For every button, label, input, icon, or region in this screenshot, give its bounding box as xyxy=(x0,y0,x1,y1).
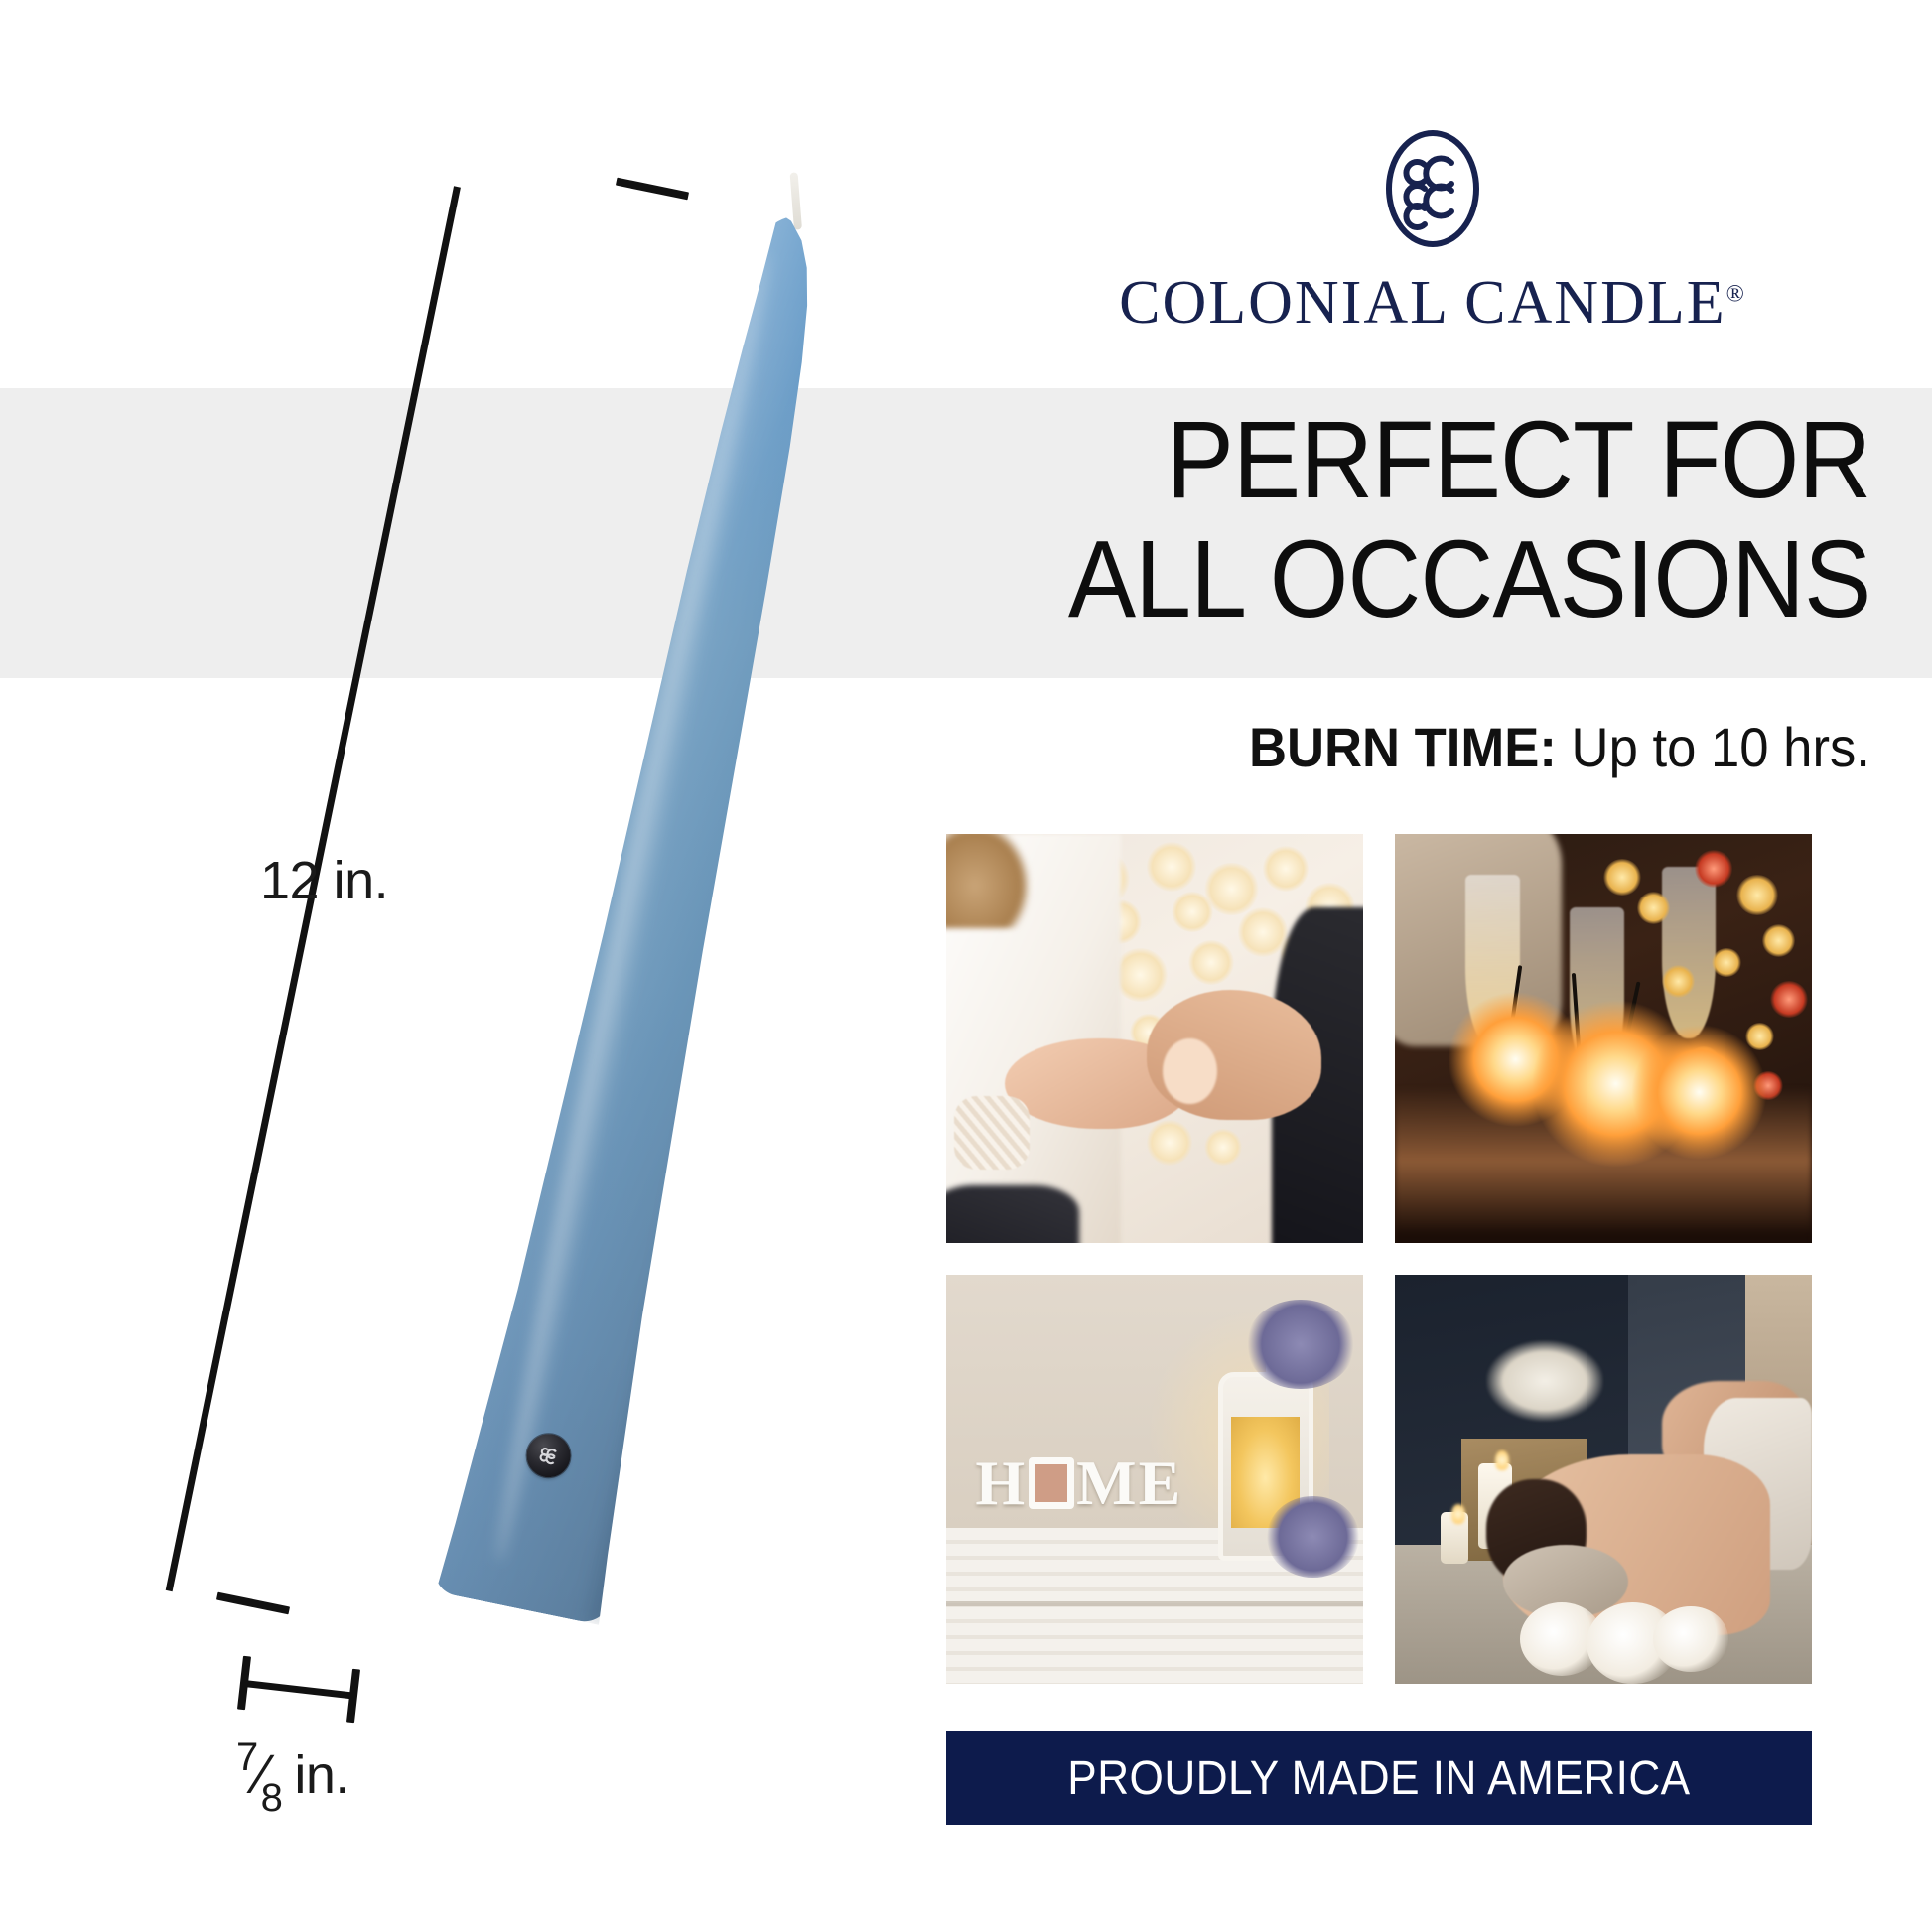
heart-icon xyxy=(1029,1457,1074,1509)
fraction-denominator: 8 xyxy=(261,1776,283,1820)
width-fraction: 7⁄8 xyxy=(236,1739,288,1815)
height-dimension-cap-bottom xyxy=(216,1592,290,1615)
home-sign-letter-h: H xyxy=(975,1447,1027,1520)
banner-text: PROUDLY MADE IN AMERICA xyxy=(1067,1751,1690,1806)
product-image-stage: 12 in. 7⁄8 in. xyxy=(0,0,933,1932)
burn-time-row: BURN TIME: Up to 10 hrs. xyxy=(1249,715,1870,779)
brand-name: COLONIAL CANDLE xyxy=(1119,269,1725,337)
taper-candle-product xyxy=(431,200,890,1626)
headline-line-1: PERFECT FOR xyxy=(1068,401,1870,520)
candle-body xyxy=(431,200,890,1626)
tile-spa xyxy=(1395,1275,1812,1684)
height-dimension-cap-top xyxy=(616,178,689,201)
home-sign: H ME xyxy=(975,1447,1182,1520)
brand-logo: COLONIAL CANDLE® xyxy=(933,127,1932,339)
registered-mark: ® xyxy=(1726,281,1746,307)
page-title: PERFECT FOR ALL OCCASIONS xyxy=(1068,401,1870,639)
width-dimension-label: 7⁄8 in. xyxy=(236,1739,349,1815)
height-dimension-label: 12 in. xyxy=(260,850,388,911)
width-dimension-line xyxy=(244,1680,355,1700)
info-panel: COLONIAL CANDLE® PERFECT FOR ALL OCCASIO… xyxy=(933,0,1932,1932)
burn-time-label: BURN TIME: xyxy=(1249,716,1557,778)
made-in-america-banner: PROUDLY MADE IN AMERICA xyxy=(946,1731,1812,1825)
candle-wick-icon xyxy=(789,172,801,229)
cc-monogram-oval-icon xyxy=(1384,127,1481,250)
headline-line-2: ALL OCCASIONS xyxy=(1068,520,1870,639)
fraction-numerator: 7 xyxy=(236,1735,258,1779)
width-dimension-cap-right xyxy=(346,1669,360,1724)
width-unit-label: in. xyxy=(294,1744,349,1806)
tile-home: H ME xyxy=(946,1275,1363,1684)
lifestyle-image-grid: H ME xyxy=(946,834,1812,1684)
tile-celebration xyxy=(1395,834,1812,1243)
burn-time-value: Up to 10 hrs. xyxy=(1572,716,1870,778)
tile-wedding xyxy=(946,834,1363,1243)
brand-wordmark: COLONIAL CANDLE® xyxy=(1119,268,1746,339)
home-sign-letters-me: ME xyxy=(1076,1447,1182,1520)
